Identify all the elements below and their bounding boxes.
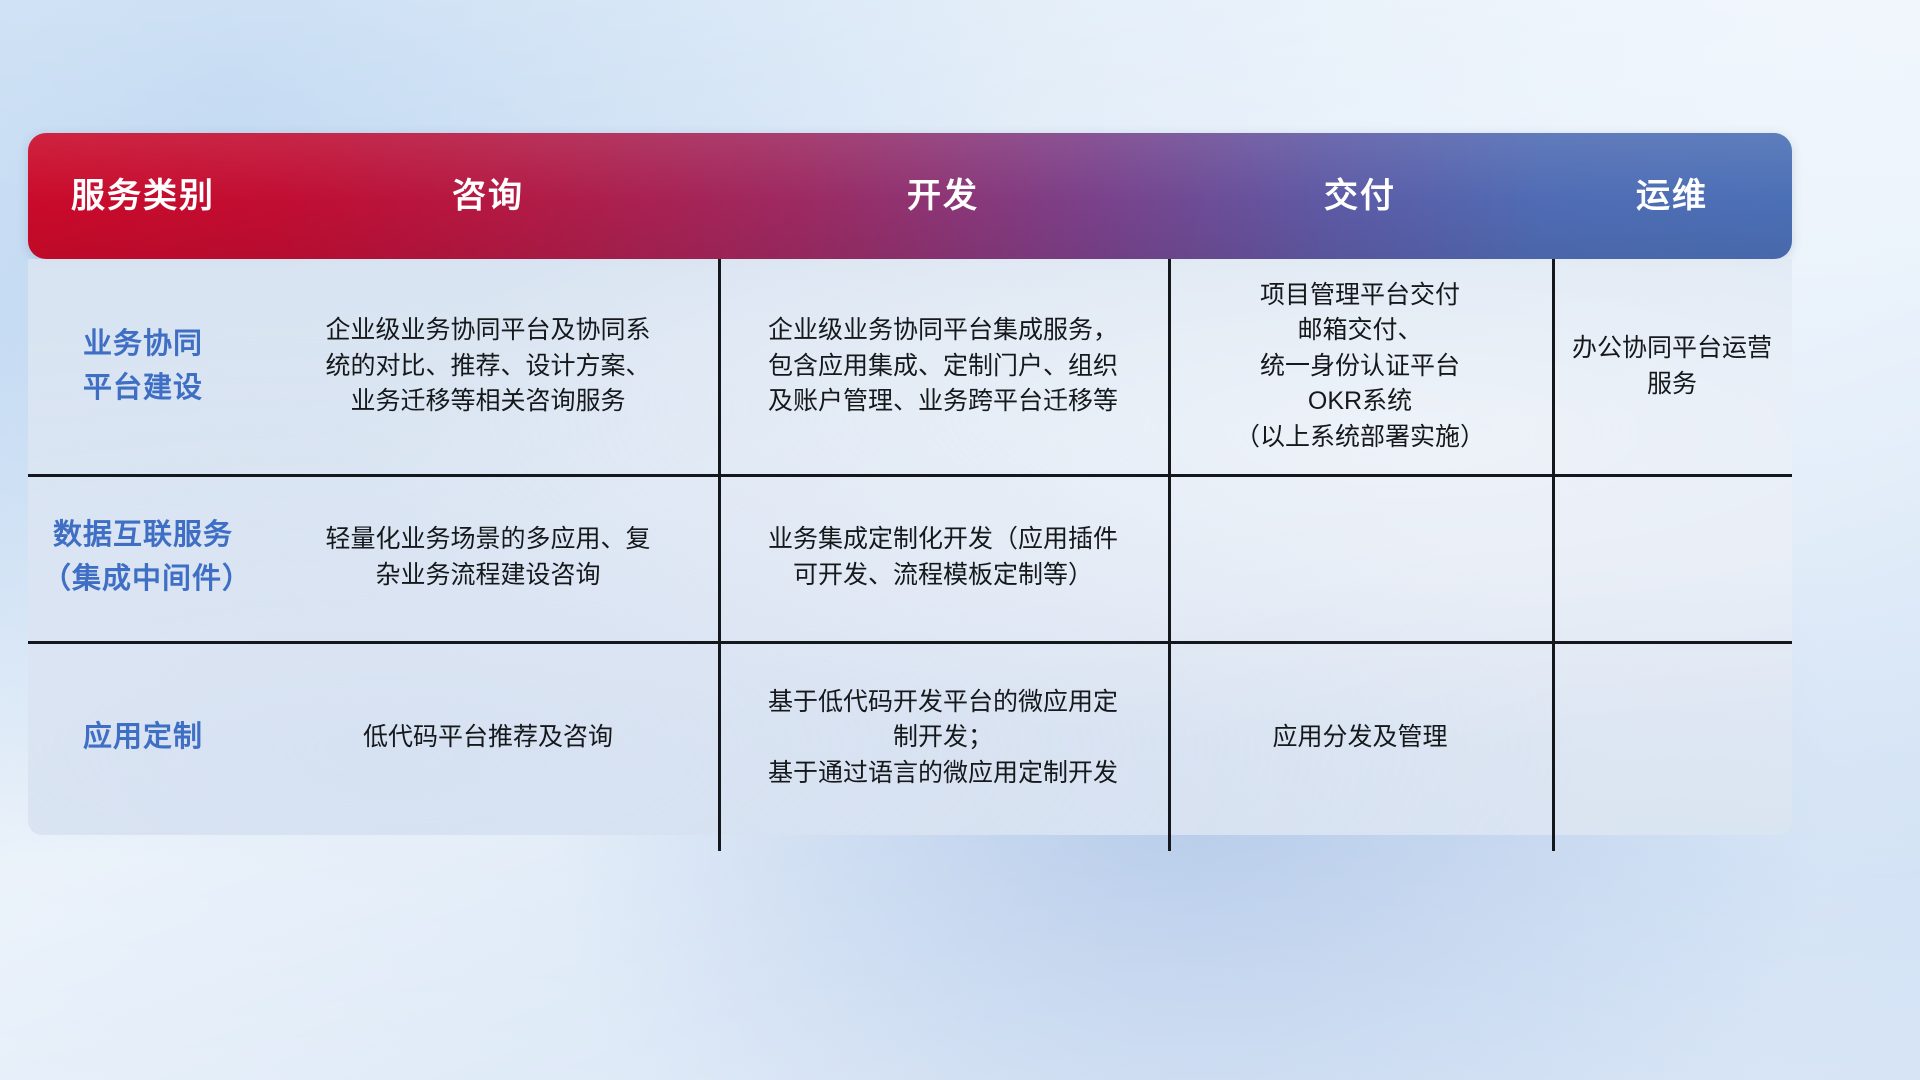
cell-development: 企业级业务协同平台集成服务， 包含应用集成、定制门户、组织 及账户管理、业务跨平…: [718, 259, 1168, 474]
table-header-row: 服务类别 咨询 开发 交付 运维: [28, 133, 1792, 259]
cell-operations: 办公协同平台运营服务: [1552, 259, 1792, 474]
service-matrix-table: 服务类别 咨询 开发 交付 运维 业务协同 平台建设 企业级业务协同平台及协同系…: [28, 133, 1792, 835]
table-row: 应用定制 低代码平台推荐及咨询 基于低代码开发平台的微应用定 制开发； 基于通过…: [28, 641, 1792, 835]
column-divider-1: [718, 259, 721, 851]
cell-category: 应用定制: [28, 641, 258, 835]
column-divider-3: [1552, 259, 1555, 851]
row-divider-1: [28, 474, 1792, 477]
column-header-development: 开发: [718, 176, 1168, 217]
cell-operations: [1552, 641, 1792, 835]
row-divider-2: [28, 641, 1792, 644]
cell-consulting: 低代码平台推荐及咨询: [258, 641, 718, 835]
cell-consulting: 企业级业务协同平台及协同系 统的对比、推荐、设计方案、 业务迁移等相关咨询服务: [258, 259, 718, 474]
table-row: 数据互联服务 （集成中间件） 轻量化业务场景的多应用、复 杂业务流程建设咨询 业…: [28, 474, 1792, 641]
cell-delivery: 项目管理平台交付 邮箱交付、 统一身份认证平台 OKR系统 （以上系统部署实施）: [1168, 259, 1552, 474]
column-header-delivery: 交付: [1168, 176, 1552, 217]
cell-category: 业务协同 平台建设: [28, 259, 258, 474]
column-header-operations: 运维: [1552, 176, 1792, 217]
column-header-consulting: 咨询: [258, 176, 718, 217]
table-row: 业务协同 平台建设 企业级业务协同平台及协同系 统的对比、推荐、设计方案、 业务…: [28, 259, 1792, 474]
cell-development: 基于低代码开发平台的微应用定 制开发； 基于通过语言的微应用定制开发: [718, 641, 1168, 835]
table-body: 业务协同 平台建设 企业级业务协同平台及协同系 统的对比、推荐、设计方案、 业务…: [28, 259, 1792, 835]
cell-consulting: 轻量化业务场景的多应用、复 杂业务流程建设咨询: [258, 474, 718, 641]
cell-delivery: [1168, 474, 1552, 641]
cell-operations: [1552, 474, 1792, 641]
cell-development: 业务集成定制化开发（应用插件 可开发、流程模板定制等）: [718, 474, 1168, 641]
cell-delivery: 应用分发及管理: [1168, 641, 1552, 835]
column-divider-2: [1168, 259, 1171, 851]
cell-category: 数据互联服务 （集成中间件）: [28, 474, 258, 641]
column-header-category: 服务类别: [28, 176, 258, 217]
